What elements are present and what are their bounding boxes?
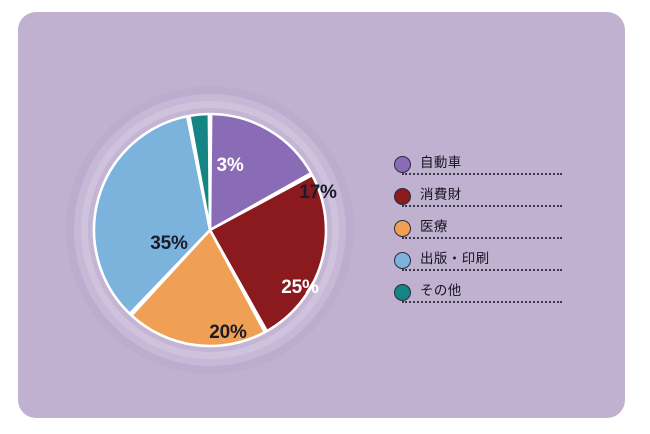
- pie-chart: 17%25%20%35%3%: [65, 85, 355, 375]
- chart-panel: 17%25%20%35%3% 自動車消費財医療出版・印刷その他: [18, 12, 625, 418]
- legend-item-label: 自動車: [420, 151, 462, 171]
- legend-swatch-icon: [394, 220, 411, 237]
- legend-leader-line: [402, 269, 562, 271]
- legend-item-5[interactable]: その他: [394, 276, 554, 308]
- legend-item-label: 消費財: [420, 183, 462, 203]
- legend-swatch-icon: [394, 188, 411, 205]
- legend-item-4[interactable]: 出版・印刷: [394, 244, 554, 276]
- chart-legend: 自動車消費財医療出版・印刷その他: [394, 148, 554, 308]
- legend-item-3[interactable]: 医療: [394, 212, 554, 244]
- legend-item-label: 出版・印刷: [420, 247, 490, 267]
- legend-swatch-icon: [394, 284, 411, 301]
- legend-swatch-icon: [394, 156, 411, 173]
- pie-slices-container: 17%25%20%35%3%: [92, 112, 328, 348]
- legend-item-2[interactable]: 消費財: [394, 180, 554, 212]
- legend-item-1[interactable]: 自動車: [394, 148, 554, 180]
- legend-leader-line: [402, 205, 562, 207]
- legend-swatch-icon: [394, 252, 411, 269]
- legend-leader-line: [402, 173, 562, 175]
- legend-item-label: その他: [420, 279, 462, 299]
- legend-leader-line: [402, 301, 562, 303]
- legend-item-label: 医療: [420, 215, 448, 235]
- legend-leader-line: [402, 237, 562, 239]
- pie-svg: [92, 112, 328, 348]
